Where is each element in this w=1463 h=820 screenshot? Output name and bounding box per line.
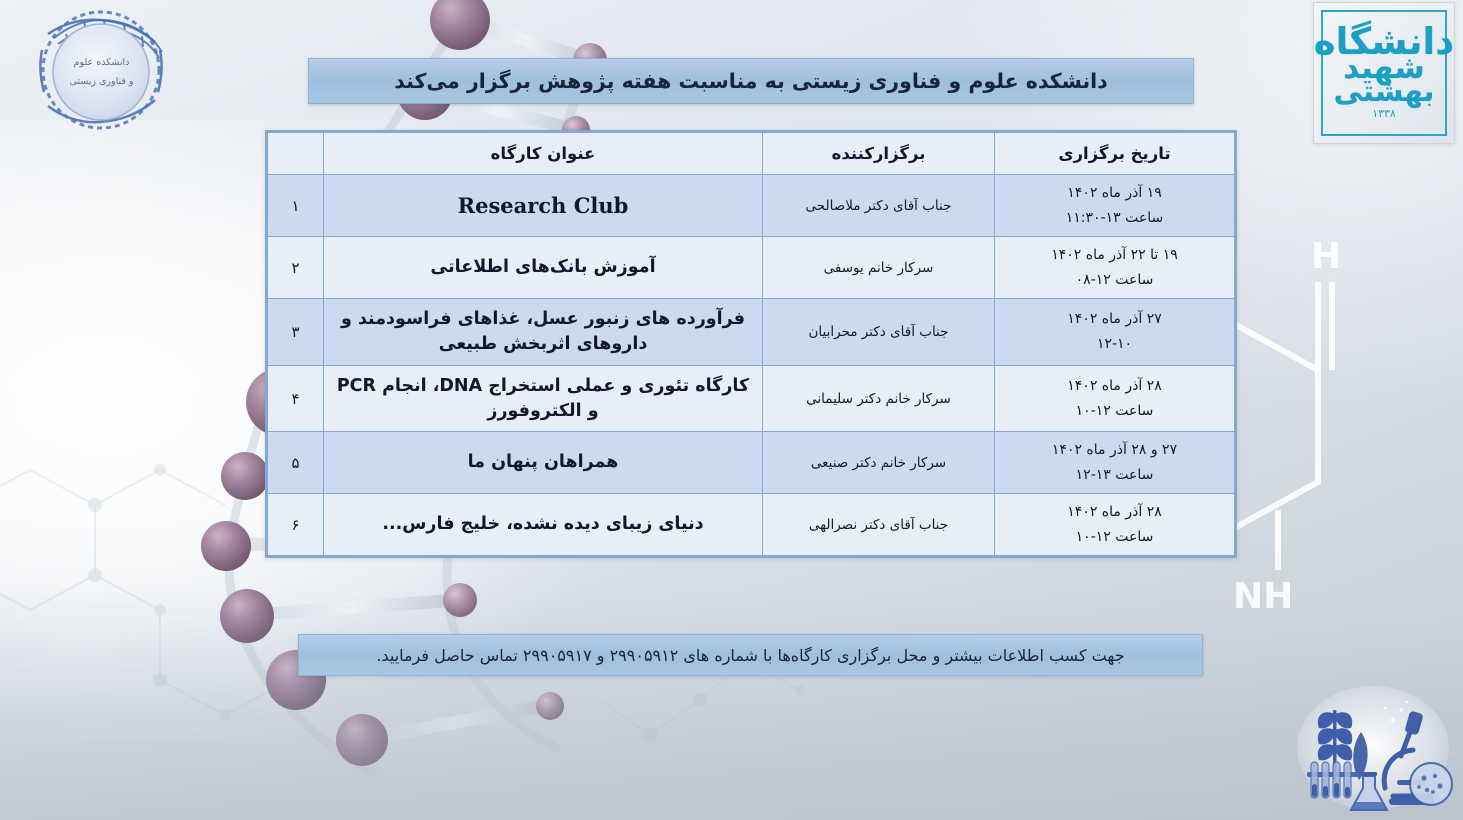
cell-row-number: ۴ [268, 365, 324, 432]
cell-workshop-title: Research Club [324, 175, 763, 237]
cell-date: ۲۷ و ۲۸ آذر ماه ۱۴۰۲ساعت ۱۳-۱۲ [995, 432, 1235, 494]
contact-banner: جهت کسب اطلاعات بیشتر و محل برگزاری کارگ… [298, 634, 1203, 676]
table-row: ۱۹ آذر ماه ۱۴۰۲ساعت ۱۳-۱۱:۳۰جناب آقای دک… [268, 175, 1235, 237]
date-line-1: ۲۸ آذر ماه ۱۴۰۲ [1003, 500, 1226, 525]
date-line-2: ساعت ۱۲-۰۸ [1003, 268, 1226, 293]
table-row: ۲۸ آذر ماه ۱۴۰۲ساعت ۱۲-۱۰جناب آقای دکتر … [268, 494, 1235, 556]
table-row: ۲۷ و ۲۸ آذر ماه ۱۴۰۲ساعت ۱۳-۱۲سرکار خانم… [268, 432, 1235, 494]
table-header-row: تاریخ برگزاری برگزارکننده عنوان کارگاه [268, 133, 1235, 175]
chem-label-nh: NH [1233, 576, 1293, 617]
column-header-host: برگزارکننده [763, 133, 995, 175]
test-tubes-icon [1307, 762, 1359, 798]
contact-info-text: جهت کسب اطلاعات بیشتر و محل برگزاری کارگ… [376, 646, 1124, 665]
table-row: ۲۸ آذر ماه ۱۴۰۲ساعت ۱۲-۱۰سرکار خانم دکتر… [268, 365, 1235, 432]
university-logo-word-3: بهشتی [1334, 78, 1435, 106]
cell-host: جناب آقای دکتر ملاصالحی [763, 175, 995, 237]
date-line-2: ساعت ۱۲-۱۰ [1003, 399, 1226, 424]
workshop-schedule-table: تاریخ برگزاری برگزارکننده عنوان کارگاه ۱… [267, 132, 1235, 556]
date-line-2: ساعت ۱۳-۱۱:۳۰ [1003, 206, 1226, 231]
cell-date: ۱۹ آذر ماه ۱۴۰۲ساعت ۱۳-۱۱:۳۰ [995, 175, 1235, 237]
date-line-1: ۲۸ آذر ماه ۱۴۰۲ [1003, 374, 1226, 399]
cell-host: جناب آقای دکتر نصرالهی [763, 494, 995, 556]
cell-date: ۲۷ آذر ماه ۱۴۰۲۱۲-۱۰ [995, 299, 1235, 366]
cell-row-number: ۱ [268, 175, 324, 237]
cell-date: ۱۹ تا ۲۲ آذر ماه ۱۴۰۲ساعت ۱۲-۰۸ [995, 237, 1235, 299]
university-logo: دانشگاه شهید بهشتی ۱۳۳۸ [1313, 2, 1455, 144]
cell-date: ۲۸ آذر ماه ۱۴۰۲ساعت ۱۲-۱۰ [995, 494, 1235, 556]
column-header-date: تاریخ برگزاری [995, 133, 1235, 175]
table-row: ۲۷ آذر ماه ۱۴۰۲۱۲-۱۰جناب آقای دکتر محراب… [268, 299, 1235, 366]
university-logo-year: ۱۳۳۸ [1372, 107, 1396, 120]
cell-row-number: ۳ [268, 299, 324, 366]
workshop-table-body: ۱۹ آذر ماه ۱۴۰۲ساعت ۱۳-۱۱:۳۰جناب آقای دک… [268, 175, 1235, 556]
column-header-number [268, 133, 324, 175]
cell-row-number: ۶ [268, 494, 324, 556]
cell-workshop-title: آموزش بانک‌های اطلاعاتی [324, 237, 763, 299]
faculty-seal-line-1: دانشکده علوم [74, 57, 130, 69]
cell-row-number: ۲ [268, 237, 324, 299]
cell-workshop-title: فرآورده های زنبور عسل، غذاهای فراسودمند … [324, 299, 763, 366]
date-line-1: ۲۷ آذر ماه ۱۴۰۲ [1003, 307, 1226, 332]
cell-host: سرکار خانم یوسفی [763, 237, 995, 299]
poster-title: دانشکده علوم و فناوری زیستی به مناسبت هف… [394, 69, 1107, 93]
table-row: ۱۹ تا ۲۲ آذر ماه ۱۴۰۲ساعت ۱۲-۰۸سرکار خان… [268, 237, 1235, 299]
date-line-1: ۲۷ و ۲۸ آذر ماه ۱۴۰۲ [1003, 438, 1226, 463]
cell-host: جناب آقای دکتر محرابیان [763, 299, 995, 366]
faculty-seal: دانشکده علوم و فناوری زیستی [14, 8, 189, 136]
petri-dish-icon [1410, 763, 1452, 805]
cell-workshop-title: همراهان پنهان ما [324, 432, 763, 494]
date-line-2: ۱۲-۱۰ [1003, 332, 1226, 357]
cell-host: سرکار خانم دکتر صنیعی [763, 432, 995, 494]
date-line-2: ساعت ۱۳-۱۲ [1003, 463, 1226, 488]
faculty-seal-line-2: و فناوری زیستی [69, 76, 133, 88]
date-line-1: ۱۹ تا ۲۲ آذر ماه ۱۴۰۲ [1003, 243, 1226, 268]
biotech-emblem [1289, 680, 1457, 816]
cell-row-number: ۵ [268, 432, 324, 494]
cell-date: ۲۸ آذر ماه ۱۴۰۲ساعت ۱۲-۱۰ [995, 365, 1235, 432]
university-logo-frame: دانشگاه شهید بهشتی ۱۳۳۸ [1321, 10, 1447, 136]
cell-workshop-title: کارگاه تئوری و عملی استخراج DNA، انجام P… [324, 365, 763, 432]
background-bottom-shade [0, 590, 1463, 820]
biotech-emblem-icon [1289, 680, 1457, 816]
column-header-title: عنوان کارگاه [324, 133, 763, 175]
chem-label-h: H [1311, 236, 1341, 277]
workshop-table-container: تاریخ برگزاری برگزارکننده عنوان کارگاه ۱… [265, 130, 1237, 558]
date-line-2: ساعت ۱۲-۱۰ [1003, 525, 1226, 550]
title-banner: دانشکده علوم و فناوری زیستی به مناسبت هف… [308, 58, 1194, 104]
cell-host: سرکار خانم دکتر سلیمانی [763, 365, 995, 432]
poster-canvas: CH₃ H NH [0, 0, 1463, 820]
cell-workshop-title: دنیای زیبای دیده نشده، خلیج فارس... [324, 494, 763, 556]
date-line-1: ۱۹ آذر ماه ۱۴۰۲ [1003, 181, 1226, 206]
